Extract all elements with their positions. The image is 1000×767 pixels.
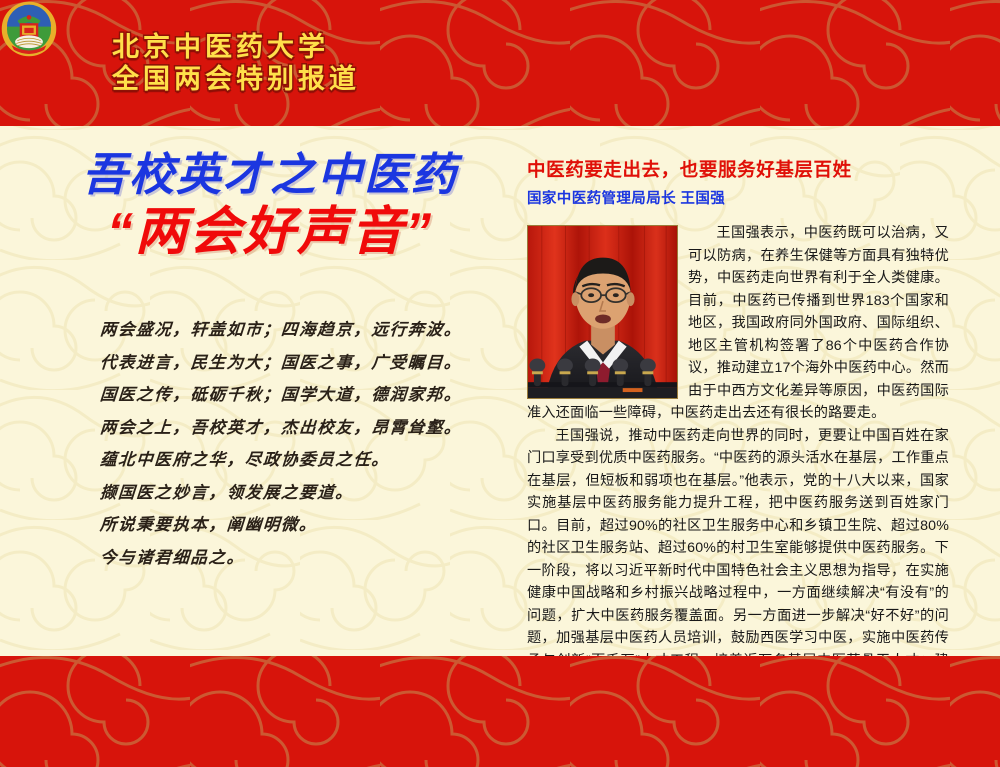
main-title-line2: “两会好声音”	[60, 202, 480, 263]
poem-line: 蕴北中医府之华，尽政协委员之任。	[99, 452, 470, 469]
poem-line: 两会之上，吾校英才，杰出校友，昂霄耸壑。	[99, 420, 470, 437]
top-red-banner: 北京中医药大学 全国两会特别报道	[0, 0, 1000, 126]
cppcc-emblem-icon	[0, 0, 58, 58]
poem-line: 代表进言，民生为大；国医之事，广受瞩目。	[99, 355, 470, 372]
poem-line: 今与诸君细品之。	[99, 550, 470, 567]
poster-root: 北京中医药大学 全国两会特别报道 吾校英才之中医药 “两会好声音” 两会盛况，轩…	[0, 0, 1000, 767]
bottom-banner-swirls	[0, 656, 1000, 767]
article-byline: 国家中医药管理局局长 王国强	[527, 190, 949, 208]
portrait-photo	[527, 225, 678, 399]
main-title-line1: 吾校英才之中医药	[60, 150, 480, 200]
bottom-red-banner	[0, 656, 1000, 767]
poem-block: 两会盛况，轩盖如市；四海趋京，远行奔波。 代表进言，民生为大；国医之事，广受瞩目…	[100, 322, 470, 582]
article-headline: 中医药要走出去，也要服务好基层百姓	[527, 158, 949, 181]
poem-line: 国医之传，砥砺千秋；国学大道，德润家邦。	[99, 387, 470, 404]
header-content: 北京中医药大学 全国两会特别报道	[0, 0, 1000, 126]
poem-line: 撷国医之妙言，领发展之要道。	[99, 485, 470, 502]
left-column: 吾校英才之中医药 “两会好声音”	[60, 150, 480, 264]
header-title-line1: 北京中医药大学	[112, 33, 360, 62]
header-title-line2: 全国两会特别报道	[112, 65, 360, 94]
poem-line: 所说秉要执本，阐幽明微。	[99, 517, 470, 534]
portrait-photo-image	[528, 226, 677, 398]
poem-line: 两会盛况，轩盖如市；四海趋京，远行奔波。	[99, 322, 470, 339]
header-title-block: 北京中医药大学 全国两会特别报道	[112, 33, 360, 93]
